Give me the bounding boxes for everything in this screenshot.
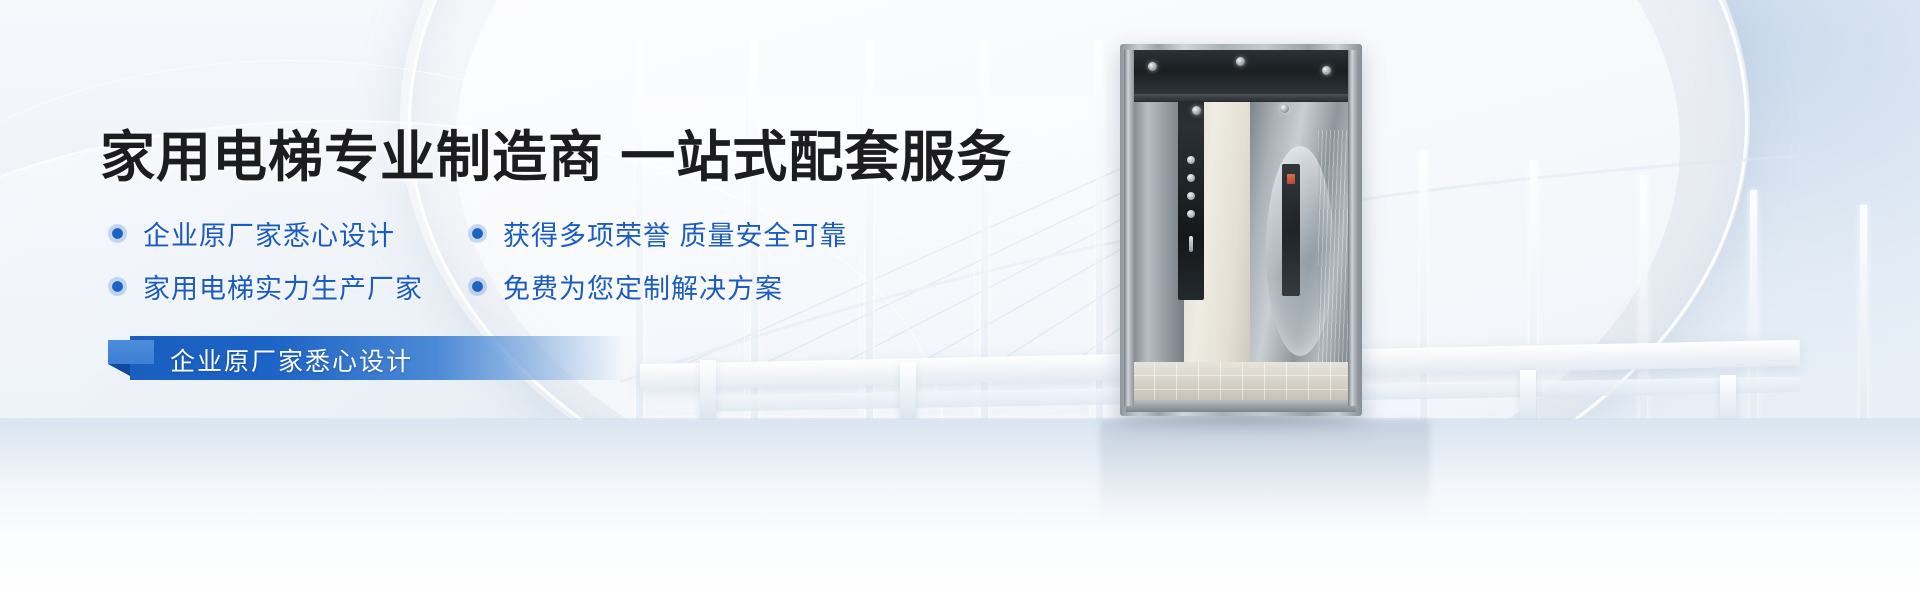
elevator-right-post [1348, 50, 1358, 406]
list-item: 获得多项荣誉 质量安全可靠 [468, 214, 828, 253]
cabin-mirror-striping [1318, 130, 1350, 380]
feature-label: 家用电梯实力生产厂家 [143, 267, 423, 306]
bridge-pylon [1520, 370, 1536, 424]
list-item: 免费为您定制解决方案 [468, 267, 828, 306]
canopy-light-icon [1192, 106, 1201, 115]
cabin-left-wall-panel [1132, 102, 1184, 402]
elevator-canopy-lip [1126, 94, 1356, 102]
feature-list: 企业原厂家悉心设计 获得多项荣誉 质量安全可靠 家用电梯实力生产厂家 免费为您定… [108, 214, 968, 320]
floor-button [1187, 174, 1195, 182]
feature-label: 企业原厂家悉心设计 [143, 214, 395, 253]
ribbon-fold-notch [108, 364, 130, 376]
elevator-left-post [1124, 50, 1134, 406]
bullet-dot-icon [468, 277, 487, 296]
promo-banner: 家用电梯专业制造商 一站式配套服务 企业原厂家悉心设计 获得多项荣誉 质量安全可… [0, 0, 1920, 600]
feature-row: 企业原厂家悉心设计 获得多项荣誉 质量安全可靠 [108, 214, 968, 253]
elevator-product-image [1120, 44, 1362, 416]
cabin-reflected-control-panel [1282, 164, 1300, 296]
elevator-base-sill [1126, 400, 1356, 412]
elevator-floor-reflection [1100, 420, 1430, 540]
floor-button [1187, 210, 1195, 218]
canopy-light-icon [1148, 62, 1157, 71]
elevator-cabin-interior [1132, 102, 1350, 402]
list-item: 企业原厂家悉心设计 [108, 214, 468, 253]
floor-button [1187, 192, 1195, 200]
feature-label: 获得多项荣誉 质量安全可靠 [503, 214, 848, 253]
bullet-dot-icon [108, 277, 127, 296]
bullet-dot-icon [108, 224, 127, 243]
feature-row: 家用电梯实力生产厂家 免费为您定制解决方案 [108, 267, 968, 306]
bullet-dot-icon [468, 224, 487, 243]
highlight-ribbon: 企业原厂家悉心设计 [108, 336, 628, 380]
ribbon-fold-tab [108, 340, 154, 364]
canopy-light-icon [1280, 104, 1289, 113]
banner-content: 家用电梯专业制造商 一站式配套服务 企业原厂家悉心设计 获得多项荣誉 质量安全可… [0, 0, 1100, 600]
control-panel-led [1189, 236, 1193, 252]
floor-button [1187, 156, 1195, 164]
canopy-light-icon [1236, 57, 1245, 66]
feature-label: 免费为您定制解决方案 [503, 267, 783, 306]
cabin-floor-tiles [1132, 362, 1350, 404]
page-title: 家用电梯专业制造商 一站式配套服务 [100, 112, 1012, 192]
list-item: 家用电梯实力生产厂家 [108, 267, 468, 306]
ribbon-label: 企业原厂家悉心设计 [170, 342, 413, 378]
canopy-light-icon [1322, 66, 1331, 75]
